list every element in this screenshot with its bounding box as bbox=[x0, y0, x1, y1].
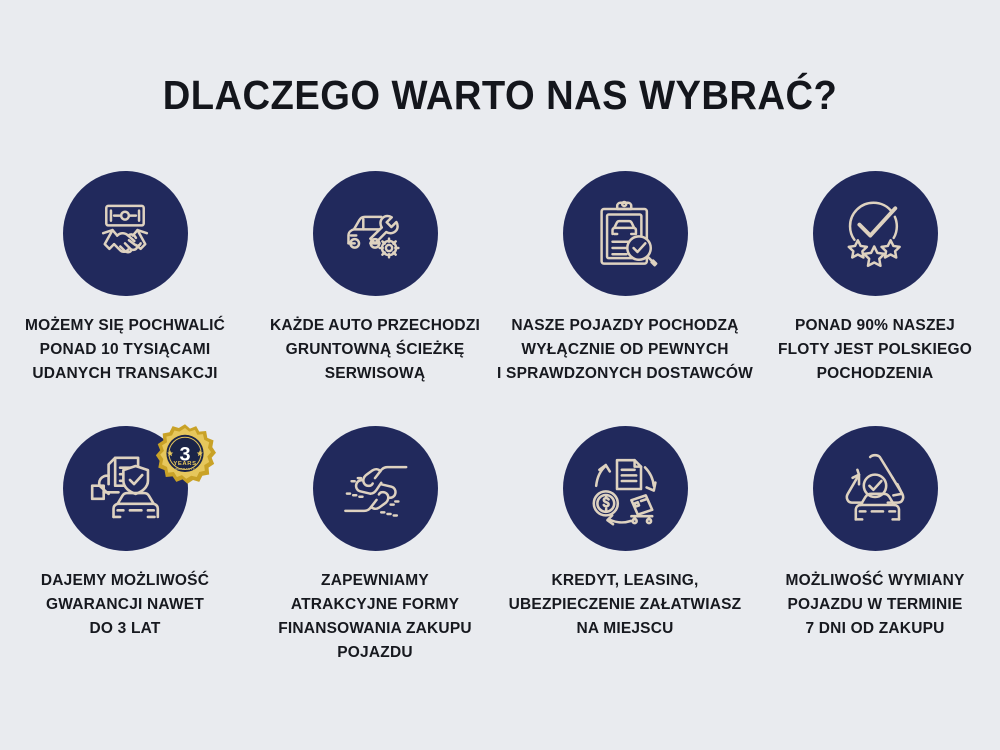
icon-badge-7 bbox=[563, 426, 688, 551]
3-years-warranty-seal: 3 YEARS WARRANTY bbox=[154, 423, 216, 485]
seal-label: YEARS bbox=[173, 461, 196, 467]
icon-circle-2 bbox=[313, 171, 438, 296]
feature-card-4: PONAD 90% NASZEJ FLOTY JEST POLSKIEGO PO… bbox=[750, 171, 1000, 386]
feature-caption-5: DAJEMY MOŻLIWOŚĆ GWARANCJI NAWET DO 3 LA… bbox=[0, 569, 256, 641]
check-stars-quality-icon bbox=[836, 195, 914, 273]
feature-card-6: ZAPEWNIAMY ATRAKCYJNE FORMY FINANSOWANIA… bbox=[250, 426, 500, 665]
feature-card-5: 3 YEARS WARRANTY DAJEMY MOŻLIWOŚĆ GWARAN… bbox=[0, 426, 250, 665]
handshake-money-icon bbox=[86, 195, 164, 273]
icon-circle-3 bbox=[563, 171, 688, 296]
feature-caption-1: MOŻEMY SIĘ POCHWALIĆ PONAD 10 TYSIĄCAMI … bbox=[0, 314, 256, 386]
icon-badge-6 bbox=[313, 426, 438, 551]
icon-circle-6 bbox=[313, 426, 438, 551]
icon-badge-2 bbox=[313, 171, 438, 296]
features-grid: MOŻEMY SIĘ POCHWALIĆ PONAD 10 TYSIĄCAMI … bbox=[0, 171, 1000, 665]
feature-caption-3: NASZE POJAZDY POCHODZĄ WYŁĄCZNIE OD PEWN… bbox=[486, 314, 764, 386]
feature-caption-6: ZAPEWNIAMY ATRAKCYJNE FORMY FINANSOWANIA… bbox=[244, 569, 506, 665]
car-service-wrench-gear-icon bbox=[336, 195, 414, 273]
why-choose-us-infographic: DLACZEGO WARTO NAS WYBRAĆ? bbox=[0, 0, 1000, 750]
feature-card-2: KAŻDE AUTO PRZECHODZI GRUNTOWNĄ ŚCIEŻKĘ … bbox=[250, 171, 500, 386]
feature-card-3: NASZE POJAZDY POCHODZĄ WYŁĄCZNIE OD PEWN… bbox=[500, 171, 750, 386]
icon-circle-7 bbox=[563, 426, 688, 551]
feature-caption-2: KAŻDE AUTO PRZECHODZI GRUNTOWNĄ ŚCIEŻKĘ … bbox=[244, 314, 506, 386]
feature-caption-4: PONAD 90% NASZEJ FLOTY JEST POLSKIEGO PO… bbox=[744, 314, 1000, 386]
icon-badge-4 bbox=[813, 171, 938, 296]
icon-badge-1 bbox=[63, 171, 188, 296]
car-exchange-check-icon bbox=[835, 449, 915, 529]
financing-cycle-icon bbox=[585, 449, 665, 529]
icon-badge-3 bbox=[563, 171, 688, 296]
feature-caption-8: MOŻLIWOŚĆ WYMIANY POJAZDU W TERMINIE 7 D… bbox=[744, 569, 1000, 641]
clipboard-car-inspection-icon bbox=[586, 195, 664, 273]
hands-money-exchange-icon bbox=[336, 450, 414, 528]
feature-card-1: MOŻEMY SIĘ POCHWALIĆ PONAD 10 TYSIĄCAMI … bbox=[0, 171, 250, 386]
seal-sublabel: WARRANTY bbox=[174, 467, 195, 471]
feature-card-7: KREDYT, LEASING, UBEZPIECZENIE ZAŁATWIAS… bbox=[500, 426, 750, 665]
icon-badge-5: 3 YEARS WARRANTY bbox=[63, 426, 188, 551]
feature-card-8: MOŻLIWOŚĆ WYMIANY POJAZDU W TERMINIE 7 D… bbox=[750, 426, 1000, 665]
icon-circle-1 bbox=[63, 171, 188, 296]
icon-badge-8 bbox=[813, 426, 938, 551]
icon-circle-4 bbox=[813, 171, 938, 296]
feature-caption-7: KREDYT, LEASING, UBEZPIECZENIE ZAŁATWIAS… bbox=[486, 569, 764, 641]
page-title: DLACZEGO WARTO NAS WYBRAĆ? bbox=[35, 0, 965, 119]
icon-circle-8 bbox=[813, 426, 938, 551]
